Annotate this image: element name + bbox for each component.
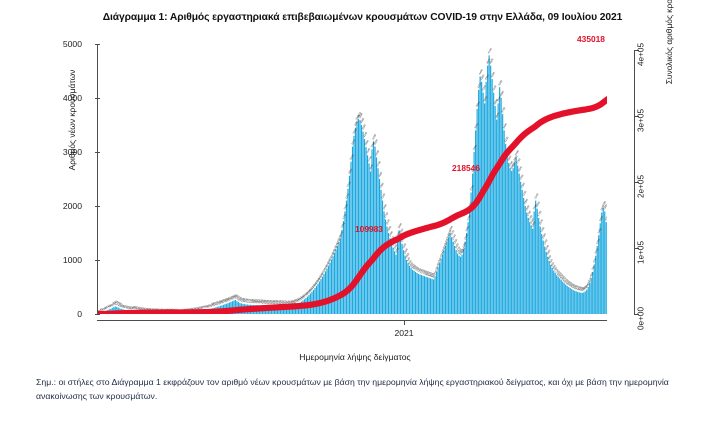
cumulative-annotation-3: 435018 xyxy=(577,34,605,44)
bar xyxy=(328,266,329,314)
bar xyxy=(541,234,542,314)
bar xyxy=(505,144,506,314)
bar xyxy=(398,230,399,314)
bar xyxy=(484,103,485,314)
left-tick-label: 1000 xyxy=(63,255,82,265)
bar xyxy=(574,291,575,314)
bar xyxy=(526,212,527,314)
bar xyxy=(394,251,395,314)
bar xyxy=(341,230,342,314)
bar xyxy=(591,278,592,314)
bar xyxy=(431,279,432,314)
bar xyxy=(347,189,348,314)
bar xyxy=(595,256,596,314)
bar xyxy=(513,168,514,314)
bar xyxy=(535,201,536,314)
bar xyxy=(483,93,484,314)
right-axis-title: Συνολικός αριθμός κρουσμάτων xyxy=(664,0,674,110)
bar xyxy=(319,281,320,314)
bar xyxy=(550,265,551,314)
bar xyxy=(444,250,445,314)
bar xyxy=(442,255,443,314)
bar xyxy=(469,209,470,314)
bar xyxy=(561,280,562,314)
bar xyxy=(326,269,327,314)
bar xyxy=(322,277,323,314)
bar xyxy=(475,130,476,314)
bar xyxy=(585,291,586,314)
x-axis-title: Ημερομηνία λήψης δείγματος xyxy=(180,352,530,362)
bar xyxy=(456,250,457,314)
bar xyxy=(555,273,556,314)
bar xyxy=(462,255,463,314)
bar xyxy=(606,222,607,314)
bar xyxy=(395,255,396,314)
bar-value-label: 2900 xyxy=(514,149,521,156)
bar xyxy=(338,242,339,314)
bar xyxy=(583,292,584,314)
bar xyxy=(577,292,578,314)
bar xyxy=(361,125,362,314)
bar xyxy=(552,268,553,314)
left-tick-label: 0 xyxy=(77,309,82,319)
bar xyxy=(421,275,422,314)
bar xyxy=(424,276,425,314)
bar xyxy=(508,163,509,314)
bar xyxy=(547,257,548,314)
bar xyxy=(507,155,508,314)
bar xyxy=(586,290,587,314)
bar xyxy=(604,211,605,314)
bar xyxy=(457,254,458,314)
bar xyxy=(359,120,360,314)
bar xyxy=(427,277,428,314)
bar xyxy=(519,174,520,314)
bar xyxy=(436,272,437,314)
bar xyxy=(573,290,574,314)
bar xyxy=(501,98,502,314)
left-axis-title: Αριθμός νέων κρουσμάτων xyxy=(67,40,77,200)
bar xyxy=(514,163,515,314)
bar xyxy=(403,250,404,314)
bar xyxy=(425,277,426,314)
bar xyxy=(511,171,512,314)
cumulative-annotation-2: 218546 xyxy=(452,163,480,173)
bar xyxy=(404,256,405,314)
bar xyxy=(543,241,544,314)
bar xyxy=(549,261,550,314)
bar xyxy=(334,253,335,314)
cumulative-annotation-1: 109983 xyxy=(355,224,383,234)
bar xyxy=(416,273,417,314)
bar xyxy=(564,283,565,314)
bar xyxy=(367,155,368,314)
bar xyxy=(370,171,371,314)
bar-value-label: 2100 xyxy=(533,192,540,199)
bar xyxy=(346,201,347,314)
bar xyxy=(559,278,560,314)
bar xyxy=(562,282,563,314)
bar xyxy=(409,266,410,314)
bar xyxy=(582,293,583,314)
x-tick-mark-2021 xyxy=(404,320,405,325)
bar xyxy=(570,288,571,314)
bar xyxy=(340,238,341,314)
bar xyxy=(594,264,595,314)
bar xyxy=(422,276,423,314)
right-tick-label: 1e+05 xyxy=(637,241,646,264)
bar xyxy=(441,259,442,314)
bar xyxy=(448,237,449,314)
x-axis-line xyxy=(97,320,607,321)
bar xyxy=(332,256,333,314)
covid-cases-figure: Διάγραμμα 1: Αριθμός εργαστηριακά επιβεβ… xyxy=(0,0,725,431)
bar xyxy=(344,211,345,314)
left-tick-mark xyxy=(95,314,100,315)
bar xyxy=(553,271,554,314)
bar xyxy=(499,87,500,314)
bar xyxy=(445,246,446,314)
bar xyxy=(571,289,572,314)
bar xyxy=(343,221,344,314)
bar xyxy=(329,263,330,314)
bar xyxy=(406,260,407,314)
bar xyxy=(376,157,377,314)
bar xyxy=(517,166,518,315)
bar xyxy=(498,103,499,314)
bar xyxy=(362,131,363,314)
bar xyxy=(546,252,547,314)
bar xyxy=(576,291,577,314)
bar xyxy=(603,208,604,314)
bar xyxy=(392,248,393,314)
bar xyxy=(556,275,557,314)
bar xyxy=(502,114,503,314)
x-tick-label-2021: 2021 xyxy=(374,328,434,338)
bar xyxy=(540,227,541,314)
right-tick-label: 3e+05 xyxy=(637,109,646,132)
bar xyxy=(538,218,539,314)
bar xyxy=(331,259,332,314)
bar xyxy=(568,287,569,314)
bar xyxy=(335,249,336,314)
bar xyxy=(413,271,414,314)
bar xyxy=(465,242,466,314)
bar xyxy=(428,278,429,314)
bar xyxy=(528,218,529,314)
bar xyxy=(558,277,559,314)
bar xyxy=(401,244,402,314)
bar-value-label: 4200 xyxy=(497,79,504,86)
bar xyxy=(522,190,523,314)
bar xyxy=(516,157,517,314)
bar xyxy=(472,174,473,314)
bar xyxy=(389,238,390,314)
page-title: Διάγραμμα 1: Αριθμός εργαστηριακά επιβεβ… xyxy=(0,12,725,23)
bar xyxy=(486,82,487,314)
bar xyxy=(447,242,448,314)
bar xyxy=(439,263,440,314)
bar xyxy=(419,275,420,314)
bar xyxy=(316,286,317,314)
bar xyxy=(418,274,419,314)
bar xyxy=(490,66,491,314)
bar xyxy=(493,93,494,314)
bar xyxy=(495,106,496,314)
bar xyxy=(450,233,451,314)
bar xyxy=(435,276,436,314)
right-tick-label: 2e+05 xyxy=(637,175,646,198)
bar xyxy=(474,152,475,314)
bar xyxy=(579,292,580,314)
bar xyxy=(597,246,598,314)
bar xyxy=(325,271,326,314)
bar xyxy=(463,249,464,314)
bar xyxy=(492,79,493,314)
bar xyxy=(544,247,545,315)
bar xyxy=(592,272,593,314)
bar xyxy=(477,109,478,314)
footnote: Σημ.: οι στήλες στο Διάγραμμα 1 εκφράζου… xyxy=(36,376,696,404)
bar xyxy=(438,268,439,314)
bar xyxy=(453,242,454,314)
chart-canvas: 8142231456072889611012514013211810596888… xyxy=(98,44,607,314)
bar xyxy=(430,278,431,314)
bar xyxy=(580,293,581,314)
bar-value-label: 4400 xyxy=(478,68,485,75)
bar xyxy=(525,206,526,314)
bar xyxy=(323,274,324,314)
bar xyxy=(520,182,521,314)
bar xyxy=(337,246,338,314)
bar xyxy=(460,257,461,314)
right-tick-label: 4e+05 xyxy=(637,43,646,66)
bar xyxy=(451,237,452,314)
bar xyxy=(532,229,533,314)
bar xyxy=(358,119,359,314)
bar-value-label: 4790 xyxy=(487,47,494,54)
bar xyxy=(529,222,530,314)
bar xyxy=(412,270,413,314)
bar xyxy=(386,227,387,314)
bar xyxy=(588,287,589,314)
bar xyxy=(510,168,511,314)
bar xyxy=(385,220,386,315)
bars-group xyxy=(98,55,607,314)
bar xyxy=(459,256,460,314)
bar-value-label: 1550 xyxy=(396,222,403,229)
bar xyxy=(601,212,602,314)
bar xyxy=(391,243,392,314)
bar xyxy=(565,285,566,314)
bar xyxy=(407,263,408,314)
bar xyxy=(415,272,416,314)
bar xyxy=(454,246,455,314)
bar xyxy=(377,168,378,314)
bar xyxy=(410,268,411,314)
plot-area: 8142231456072889611012514013211810596888… xyxy=(98,44,607,314)
bar xyxy=(531,225,532,314)
bar xyxy=(496,120,497,314)
left-tick-label: 2000 xyxy=(63,201,82,211)
bar xyxy=(600,223,601,314)
bar xyxy=(383,211,384,314)
bar xyxy=(320,279,321,314)
bar-value-label: 3200 xyxy=(371,133,378,140)
right-tick-label: 0e+00 xyxy=(637,307,646,330)
bar xyxy=(317,284,318,314)
bar xyxy=(598,235,599,314)
bar xyxy=(523,198,524,314)
bar xyxy=(433,279,434,314)
bar xyxy=(589,283,590,314)
bar xyxy=(567,286,568,314)
bar xyxy=(368,163,369,314)
